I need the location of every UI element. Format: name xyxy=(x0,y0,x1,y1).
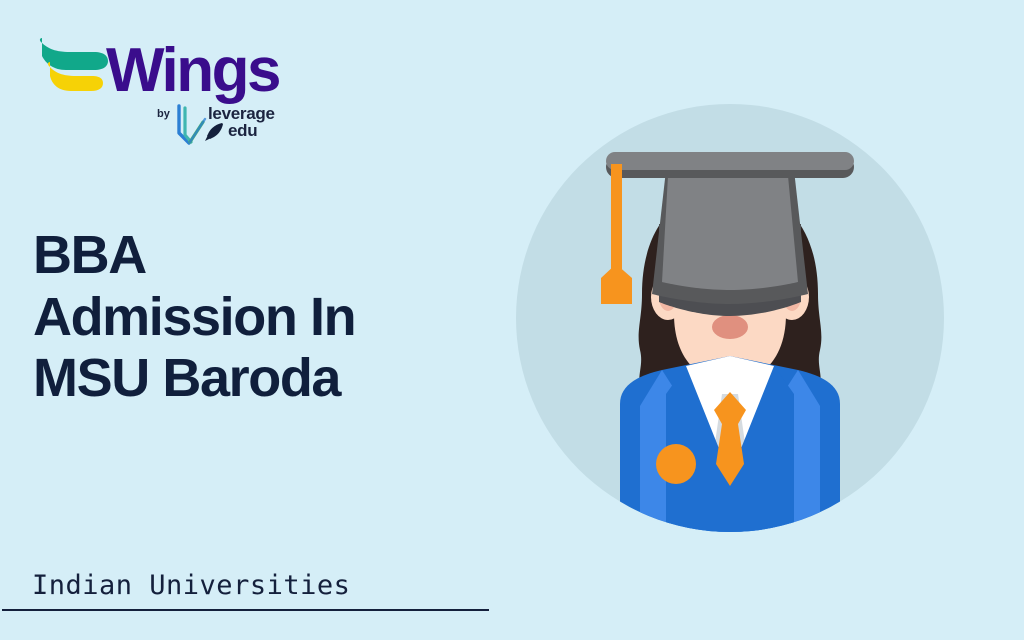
category-underline xyxy=(2,609,489,611)
cap-body-inner xyxy=(662,176,798,290)
headline-line-1: BBA xyxy=(33,225,483,287)
blazer-button xyxy=(656,444,696,484)
by-label: by xyxy=(157,109,170,120)
brand-logo[interactable]: Wings by leverage edu xyxy=(36,26,296,154)
headline-line-3: MSU Baroda xyxy=(33,348,483,410)
cap-board xyxy=(606,152,854,170)
rocket-icon xyxy=(203,121,225,143)
category-label: Indian Universities xyxy=(2,570,492,602)
tassel-cord xyxy=(611,164,622,269)
wing-swoosh-icon xyxy=(36,30,116,102)
headline-line-2: Admission In xyxy=(33,287,483,349)
female-graduate-illustration xyxy=(516,104,944,532)
wings-wordmark: Wings xyxy=(106,40,279,102)
mouth xyxy=(712,315,748,339)
footer-category-block: Indian Universities xyxy=(2,570,492,611)
poster-canvas: Wings by leverage edu BBA Admission In M… xyxy=(0,0,1024,640)
page-title: BBA Admission In MSU Baroda xyxy=(33,225,483,410)
